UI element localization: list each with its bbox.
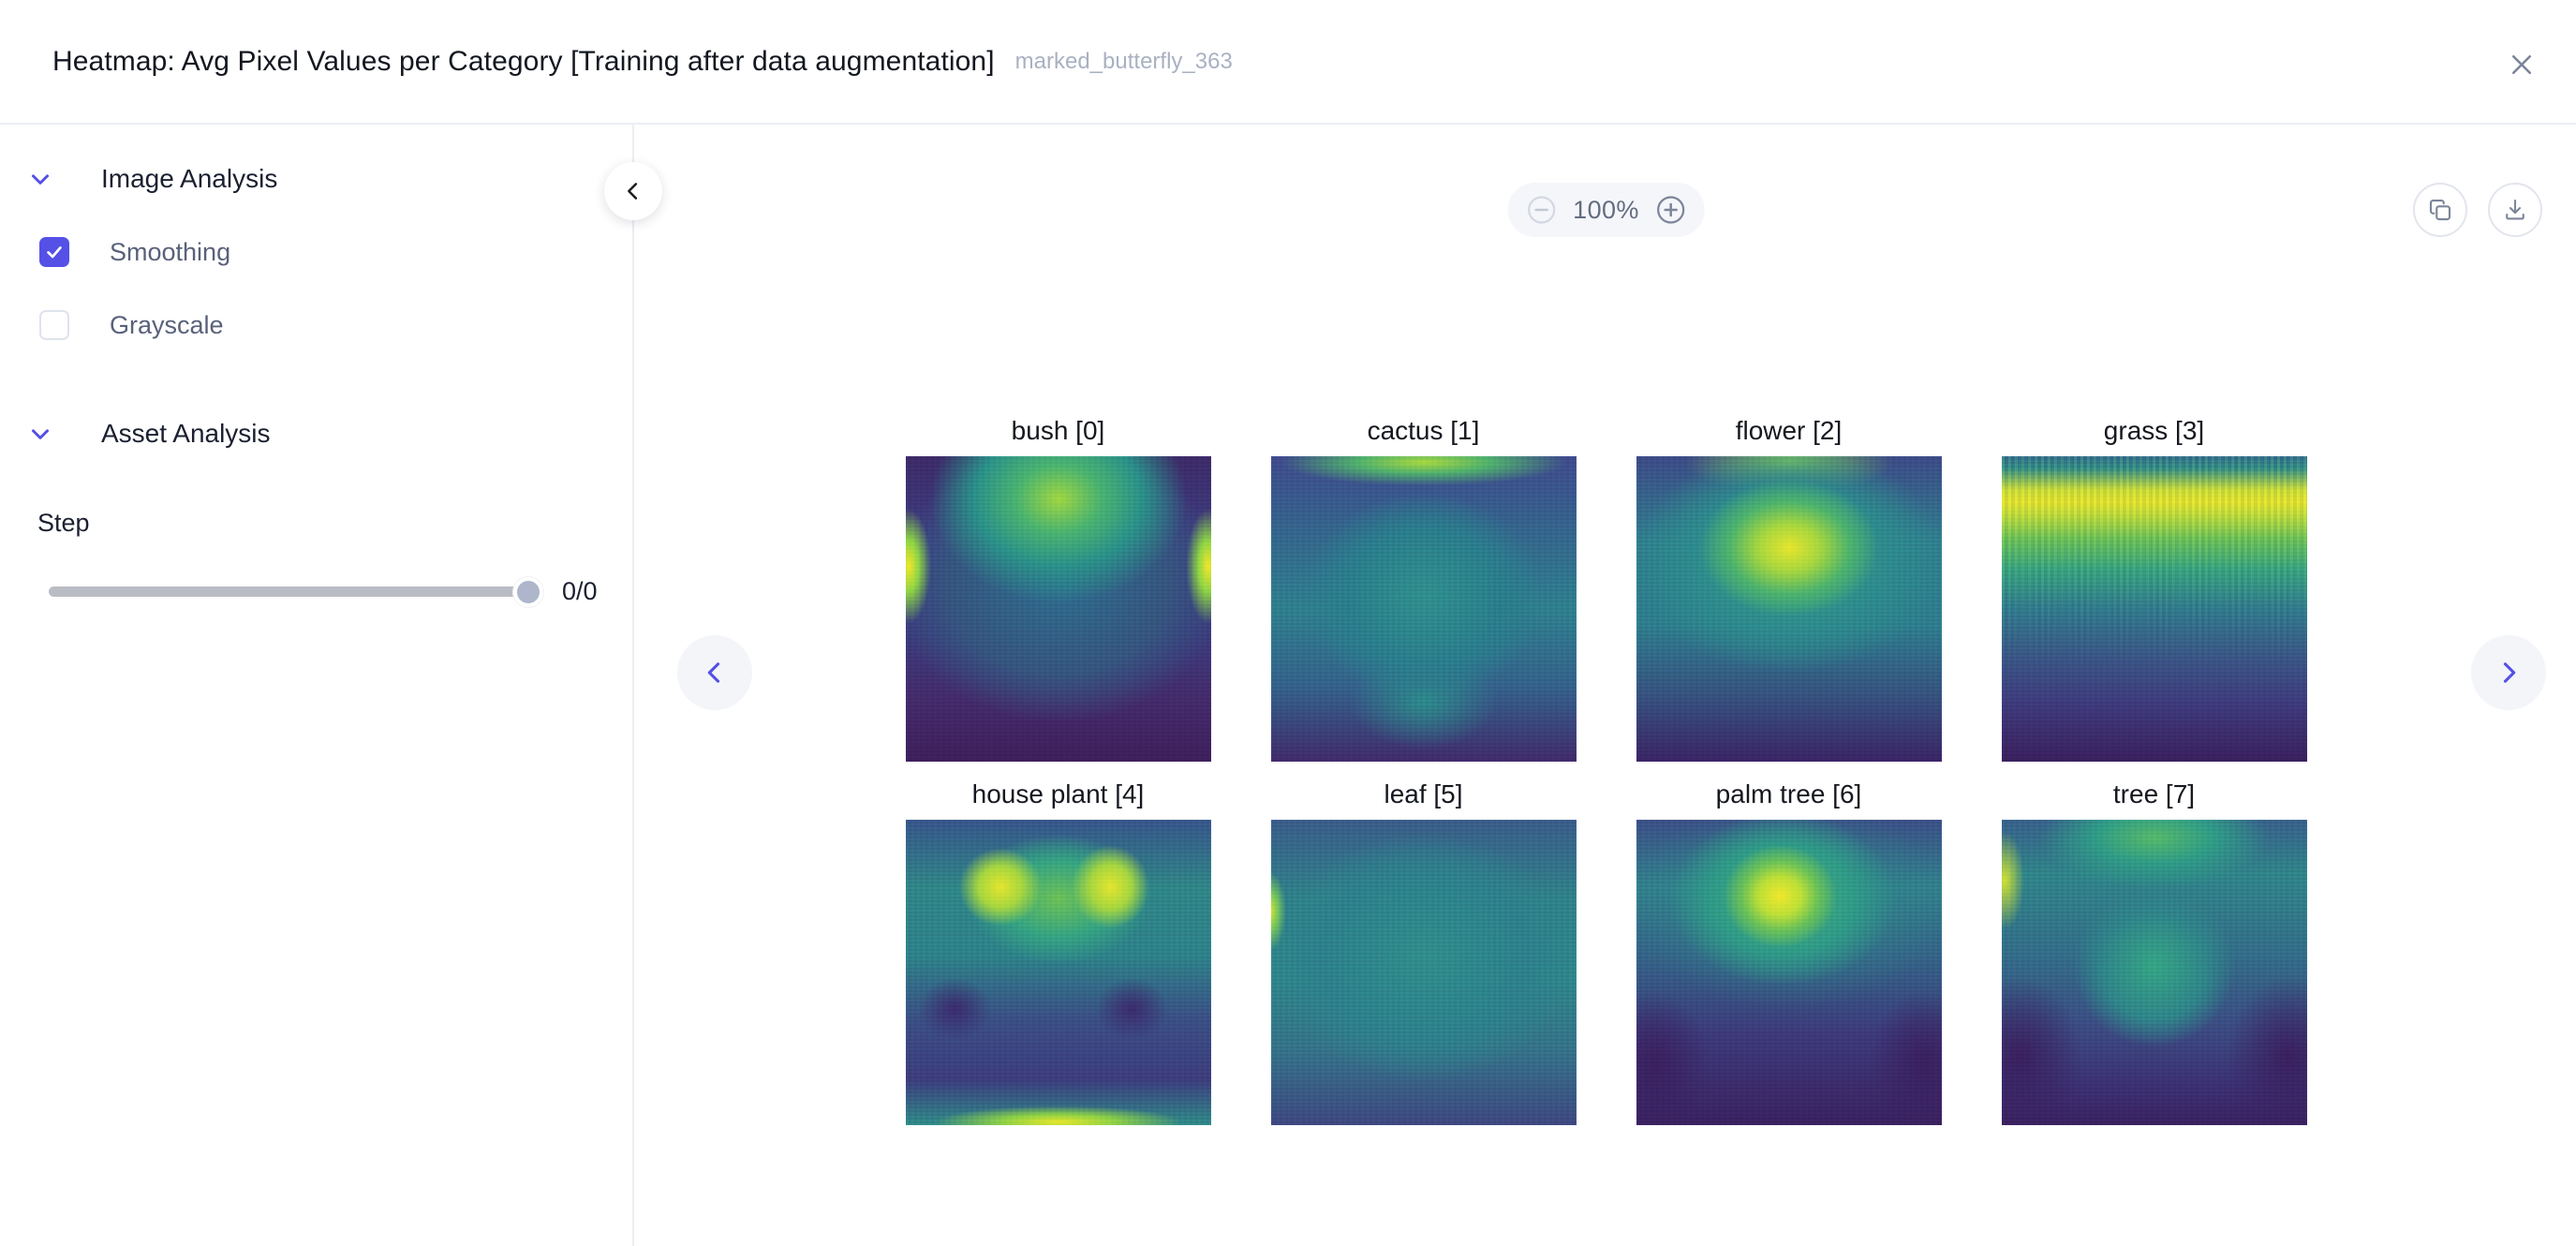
heatmap-tile: bush [0] bbox=[906, 406, 1211, 762]
heatmap-image-leaf[interactable] bbox=[1271, 820, 1577, 1125]
chevron-left-icon bbox=[620, 178, 646, 204]
heatmap-tile: palm tree [6] bbox=[1636, 769, 1942, 1125]
tile-title: grass [3] bbox=[2002, 406, 2307, 456]
heatmap-noise bbox=[2002, 820, 2307, 1125]
next-page-button[interactable] bbox=[2471, 635, 2546, 710]
heatmap-noise bbox=[1636, 820, 1942, 1125]
grayscale-label: Grayscale bbox=[110, 311, 224, 340]
heatmap-noise bbox=[1636, 456, 1942, 762]
tile-title: leaf [5] bbox=[1271, 769, 1577, 820]
heatmap-image-cactus[interactable] bbox=[1271, 456, 1577, 762]
sidebar-section-asset-analysis[interactable]: Asset Analysis bbox=[0, 408, 632, 460]
copy-icon bbox=[2426, 196, 2454, 224]
heatmap-image-flower[interactable] bbox=[1636, 456, 1942, 762]
copy-button[interactable] bbox=[2413, 183, 2467, 237]
heatmap-tile: tree [7] bbox=[2002, 769, 2307, 1125]
step-slider[interactable] bbox=[49, 586, 528, 597]
tile-title: flower [2] bbox=[1636, 406, 1942, 456]
plus-circle-icon bbox=[1654, 193, 1688, 227]
smoothing-label: Smoothing bbox=[110, 238, 230, 267]
sidebar: Image Analysis Smoothing Grayscale Asset… bbox=[0, 125, 634, 1246]
checkbox-row-smoothing[interactable]: Smoothing bbox=[0, 226, 632, 278]
heatmap-image-palm-tree[interactable] bbox=[1636, 820, 1942, 1125]
checkbox-row-grayscale[interactable]: Grayscale bbox=[0, 299, 632, 351]
asset-name-label: marked_butterfly_363 bbox=[1015, 49, 1233, 75]
step-slider-value: 0/0 bbox=[562, 577, 598, 606]
close-icon bbox=[2508, 51, 2536, 79]
tile-title: palm tree [6] bbox=[1636, 769, 1942, 820]
page-title: Heatmap: Avg Pixel Values per Category [… bbox=[52, 46, 995, 78]
dialog-header: Heatmap: Avg Pixel Values per Category [… bbox=[0, 0, 2576, 125]
heatmap-image-house-plant[interactable] bbox=[906, 820, 1211, 1125]
sidebar-section-image-analysis[interactable]: Image Analysis bbox=[0, 153, 632, 205]
zoom-out-button[interactable] bbox=[1524, 193, 1558, 227]
heatmap-noise bbox=[906, 456, 1211, 762]
tile-title: bush [0] bbox=[906, 406, 1211, 456]
zoom-level-value: 100% bbox=[1573, 196, 1639, 225]
prev-page-button[interactable] bbox=[677, 635, 752, 710]
step-slider-row: 0/0 bbox=[0, 577, 632, 606]
zoom-in-button[interactable] bbox=[1654, 193, 1688, 227]
heatmap-tile: leaf [5] bbox=[1271, 769, 1577, 1125]
heatmap-noise bbox=[906, 820, 1211, 1125]
heatmap-tile: cactus [1] bbox=[1271, 406, 1577, 762]
heatmap-tile: house plant [4] bbox=[906, 769, 1211, 1125]
tile-title: tree [7] bbox=[2002, 769, 2307, 820]
heatmap-image-tree[interactable] bbox=[2002, 820, 2307, 1125]
chevron-left-icon bbox=[699, 657, 731, 689]
zoom-control: 100% bbox=[1507, 183, 1705, 237]
download-button[interactable] bbox=[2488, 183, 2542, 237]
tile-title: house plant [4] bbox=[906, 769, 1211, 820]
heatmap-tile: grass [3] bbox=[2002, 406, 2307, 762]
chevron-right-icon bbox=[2493, 657, 2524, 689]
heatmap-tile: flower [2] bbox=[1636, 406, 1942, 762]
step-slider-thumb[interactable] bbox=[513, 577, 543, 607]
section-title: Image Analysis bbox=[101, 164, 277, 194]
heatmap-noise bbox=[1271, 456, 1577, 762]
heatmap-canvas: 100% bush [0] bbox=[636, 125, 2576, 1246]
canvas-actions bbox=[2413, 183, 2542, 237]
check-icon bbox=[44, 242, 65, 262]
sidebar-collapse-button[interactable] bbox=[604, 162, 662, 220]
heatmap-noise bbox=[1271, 820, 1577, 1125]
chevron-down-icon bbox=[26, 165, 54, 193]
download-icon bbox=[2501, 196, 2529, 224]
section-title: Asset Analysis bbox=[101, 419, 271, 449]
heatmap-image-bush[interactable] bbox=[906, 456, 1211, 762]
heatmap-image-grass[interactable] bbox=[2002, 456, 2307, 762]
tile-title: cactus [1] bbox=[1271, 406, 1577, 456]
heatmap-grid: bush [0] cactus [1] flower [2] grass [ bbox=[636, 406, 2576, 1125]
grayscale-checkbox[interactable] bbox=[39, 310, 69, 340]
smoothing-checkbox[interactable] bbox=[39, 237, 69, 267]
chevron-down-icon bbox=[26, 420, 54, 448]
minus-circle-icon bbox=[1524, 193, 1558, 227]
step-label: Step bbox=[0, 509, 632, 538]
close-button[interactable] bbox=[2494, 41, 2550, 88]
heatmap-noise bbox=[2002, 456, 2307, 762]
